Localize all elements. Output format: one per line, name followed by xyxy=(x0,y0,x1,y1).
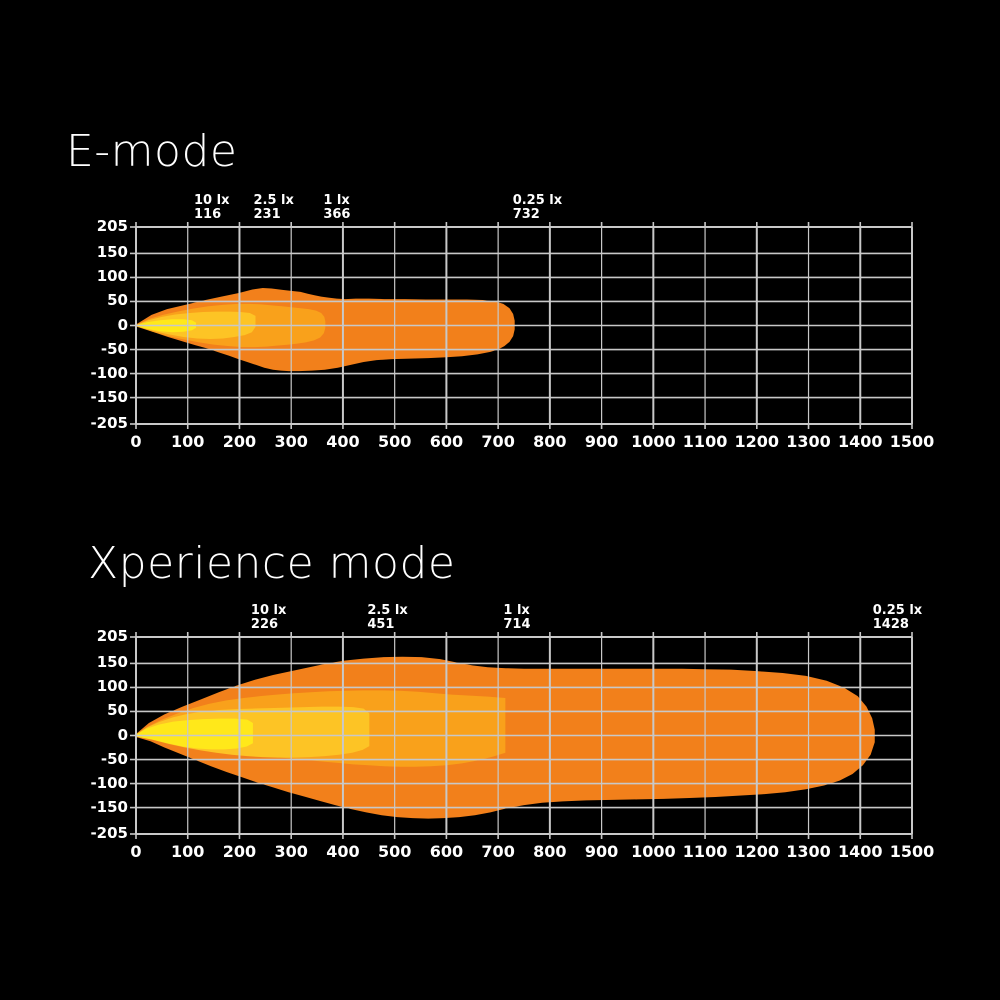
lux-marker: 1 lx366 xyxy=(323,194,350,222)
lux-marker: 0.25 lx732 xyxy=(513,194,562,222)
y-axis-label: -205 xyxy=(70,826,128,841)
lux-marker: 2.5 lx451 xyxy=(367,604,407,632)
y-axis-label: 0 xyxy=(70,728,128,743)
y-axis-label: -100 xyxy=(70,366,128,381)
chart-xperience-mode: Xperience mode 205150100500-50-100-150-2… xyxy=(0,490,1000,1000)
y-axis-label: -50 xyxy=(70,342,128,357)
grid-lines xyxy=(130,222,912,429)
y-axis-label: 150 xyxy=(70,245,128,260)
y-axis-label: 0 xyxy=(70,318,128,333)
y-axis-label: 150 xyxy=(70,655,128,670)
grid-lines xyxy=(130,632,912,839)
lux-distance: 231 xyxy=(254,208,294,222)
lux-value: 1 lx xyxy=(323,194,350,208)
lux-distance: 732 xyxy=(513,208,562,222)
chart-e-mode: E-mode 205150100500-50-100-150-205010020… xyxy=(0,0,1000,490)
lux-value: 1 lx xyxy=(503,604,530,618)
beam-pattern-svg-x xyxy=(0,490,1000,1000)
lux-marker: 0.25 lx1428 xyxy=(873,604,922,632)
lux-marker: 1 lx714 xyxy=(503,604,530,632)
lux-distance: 1428 xyxy=(873,618,922,632)
lux-value: 0.25 lx xyxy=(513,194,562,208)
y-axis-label: 50 xyxy=(70,293,128,308)
lux-marker: 2.5 lx231 xyxy=(254,194,294,222)
y-axis-label: 205 xyxy=(70,629,128,644)
lux-value: 2.5 lx xyxy=(367,604,407,618)
lux-value: 0.25 lx xyxy=(873,604,922,618)
lux-distance: 226 xyxy=(251,618,286,632)
plot-area-xperience-mode xyxy=(0,490,1000,1000)
y-axis-label: -50 xyxy=(70,752,128,767)
beam-pattern-svg-e xyxy=(0,0,1000,490)
lux-distance: 366 xyxy=(323,208,350,222)
x-axis-label: 1500 xyxy=(872,844,952,860)
lux-marker: 10 lx116 xyxy=(194,194,229,222)
y-axis-label: -205 xyxy=(70,416,128,431)
y-axis-label: -150 xyxy=(70,390,128,405)
lux-value: 10 lx xyxy=(251,604,286,618)
lux-distance: 714 xyxy=(503,618,530,632)
beam-layers xyxy=(136,657,875,819)
lux-distance: 116 xyxy=(194,208,229,222)
lux-distance: 451 xyxy=(367,618,407,632)
y-axis-label: 205 xyxy=(70,219,128,234)
x-axis-label: 1500 xyxy=(872,434,952,450)
lux-value: 2.5 lx xyxy=(254,194,294,208)
lux-value: 10 lx xyxy=(194,194,229,208)
y-axis-label: 50 xyxy=(70,703,128,718)
y-axis-label: 100 xyxy=(70,679,128,694)
y-axis-label: 100 xyxy=(70,269,128,284)
beam-layers xyxy=(136,288,515,371)
lux-marker: 10 lx226 xyxy=(251,604,286,632)
plot-area-e-mode xyxy=(0,0,1000,490)
y-axis-label: -150 xyxy=(70,800,128,815)
y-axis-label: -100 xyxy=(70,776,128,791)
